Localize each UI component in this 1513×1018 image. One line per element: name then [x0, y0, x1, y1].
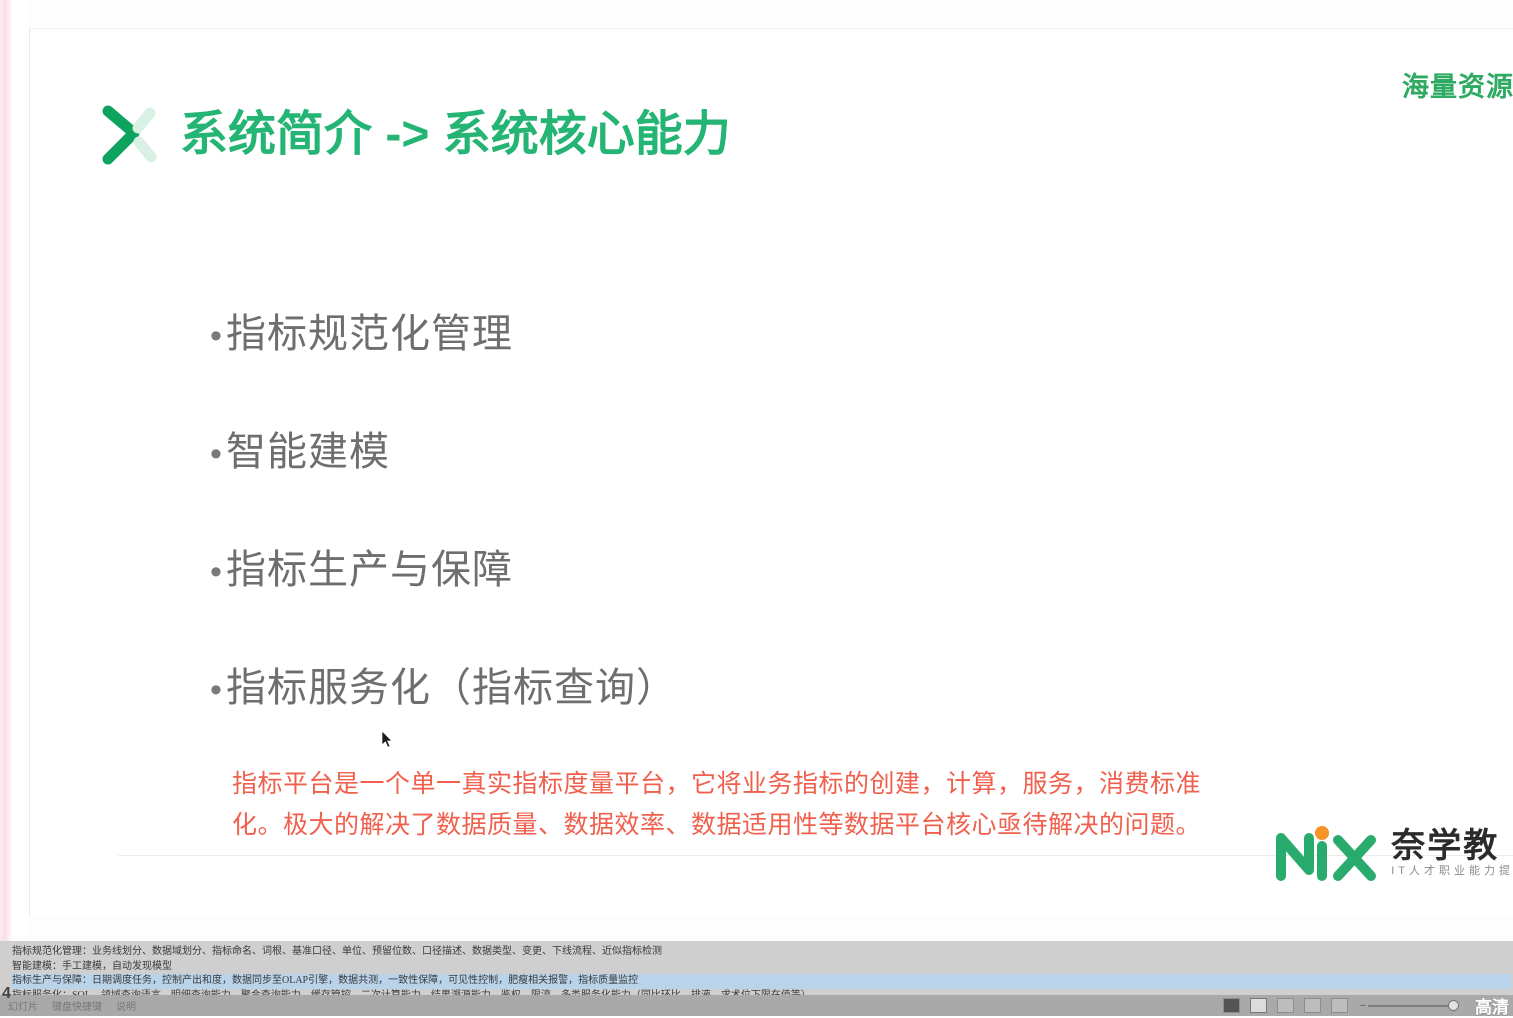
- status-shortcuts-label[interactable]: 键盘快捷键: [52, 998, 102, 1013]
- notes-line: 智能建模：手工建模，自动发现模型: [12, 960, 1512, 975]
- zoom-knob[interactable]: [1448, 1000, 1459, 1011]
- list-item[interactable]: • 指标生产与保障: [180, 537, 1280, 655]
- notes-pane[interactable]: 指标规范化管理：业务线划分、数据域划分、指标命名、词根、基准口径、单位、预留位数…: [0, 941, 1513, 995]
- red-annotation-paragraph[interactable]: 指标平台是一个单一真实指标度量平台，它将业务指标的创建，计算，服务，消费标准 化…: [232, 765, 1357, 846]
- view-button-presentation-icon[interactable]: [1331, 998, 1348, 1013]
- x-mark-icon: [98, 104, 158, 166]
- list-item[interactable]: • 指标规范化管理: [180, 301, 1280, 419]
- bullet-text: 指标规范化管理: [226, 301, 513, 359]
- bullet-text: 指标生产与保障: [226, 537, 513, 595]
- left-edge-strip: [0, 0, 13, 941]
- view-button-slide-sorter-icon[interactable]: [1277, 998, 1294, 1013]
- zoom-out-button[interactable]: −: [1358, 1000, 1368, 1012]
- status-bar: 4 幻灯片 键盘快捷键 说明 − 高清: [0, 995, 1513, 1016]
- view-button-outline-icon[interactable]: [1250, 998, 1267, 1013]
- slide-title-row: 系统简介 -> 系统核心能力: [98, 104, 731, 166]
- nix-logo-icon: [1275, 824, 1379, 882]
- notes-line: 指标规范化管理：业务线划分、数据域划分、指标命名、词根、基准口径、单位、预留位数…: [12, 945, 1512, 960]
- zoom-track[interactable]: [1368, 1005, 1452, 1007]
- brand-name: 奈学教: [1391, 829, 1513, 863]
- notes-text[interactable]: 指标规范化管理：业务线划分、数据域划分、指标命名、词根、基准口径、单位、预留位数…: [12, 945, 1512, 995]
- bullet-text: 智能建模: [226, 419, 390, 477]
- bullet-text: 指标服务化（指标查询）: [226, 655, 677, 713]
- list-item[interactable]: • 指标服务化（指标查询）: [180, 655, 1280, 773]
- status-bar-right-group: − 高清: [1223, 993, 1513, 1018]
- hd-watermark: 高清: [1475, 993, 1509, 1018]
- list-item[interactable]: • 智能建模: [180, 419, 1280, 537]
- corner-note-text: 海量资源: [1402, 65, 1513, 104]
- view-button-normal-icon[interactable]: [1223, 998, 1240, 1013]
- notes-line-selected: 指标生产与保障：日期调度任务，控制产出和度，数据同步至OLAP引擎，数据共测，一…: [12, 974, 1512, 989]
- powerpoint-presentation-screen: 海量资源 系统简介 -> 系统核心能力 • 指标规范化管理 • 智能建模: [0, 0, 1513, 1016]
- bullet-list: • 指标规范化管理 • 智能建模 • 指标生产与保障 • 指标服务化（指标查询）: [180, 301, 1280, 773]
- zoom-slider[interactable]: −: [1358, 1000, 1459, 1012]
- nix-brand-logo: 奈学教 IT人才职业能力提: [1275, 824, 1513, 882]
- bullet-marker: •: [180, 437, 226, 471]
- slide-canvas[interactable]: 海量资源 系统简介 -> 系统核心能力 • 指标规范化管理 • 智能建模: [29, 28, 1513, 917]
- status-slide-label: 幻灯片: [8, 998, 38, 1013]
- bullet-marker: •: [180, 673, 226, 707]
- left-margin: [13, 0, 29, 941]
- nix-wordmark: 奈学教 IT人才职业能力提: [1391, 829, 1513, 877]
- status-bar-left-group: 幻灯片 键盘快捷键 说明: [0, 998, 136, 1013]
- status-notes-label[interactable]: 说明: [116, 998, 136, 1013]
- bullet-marker: •: [180, 555, 226, 589]
- red-annotation-line-2: 化。极大的解决了数据质量、数据效率、数据适用性等数据平台核心亟待解决的问题。: [232, 806, 1357, 847]
- brand-tagline: IT人才职业能力提: [1391, 866, 1513, 877]
- bullet-marker: •: [180, 319, 226, 353]
- view-button-reading-icon[interactable]: [1304, 998, 1321, 1013]
- red-annotation-line-1: 指标平台是一个单一真实指标度量平台，它将业务指标的创建，计算，服务，消费标准: [232, 765, 1357, 806]
- page-title: 系统简介 -> 系统核心能力: [180, 109, 731, 162]
